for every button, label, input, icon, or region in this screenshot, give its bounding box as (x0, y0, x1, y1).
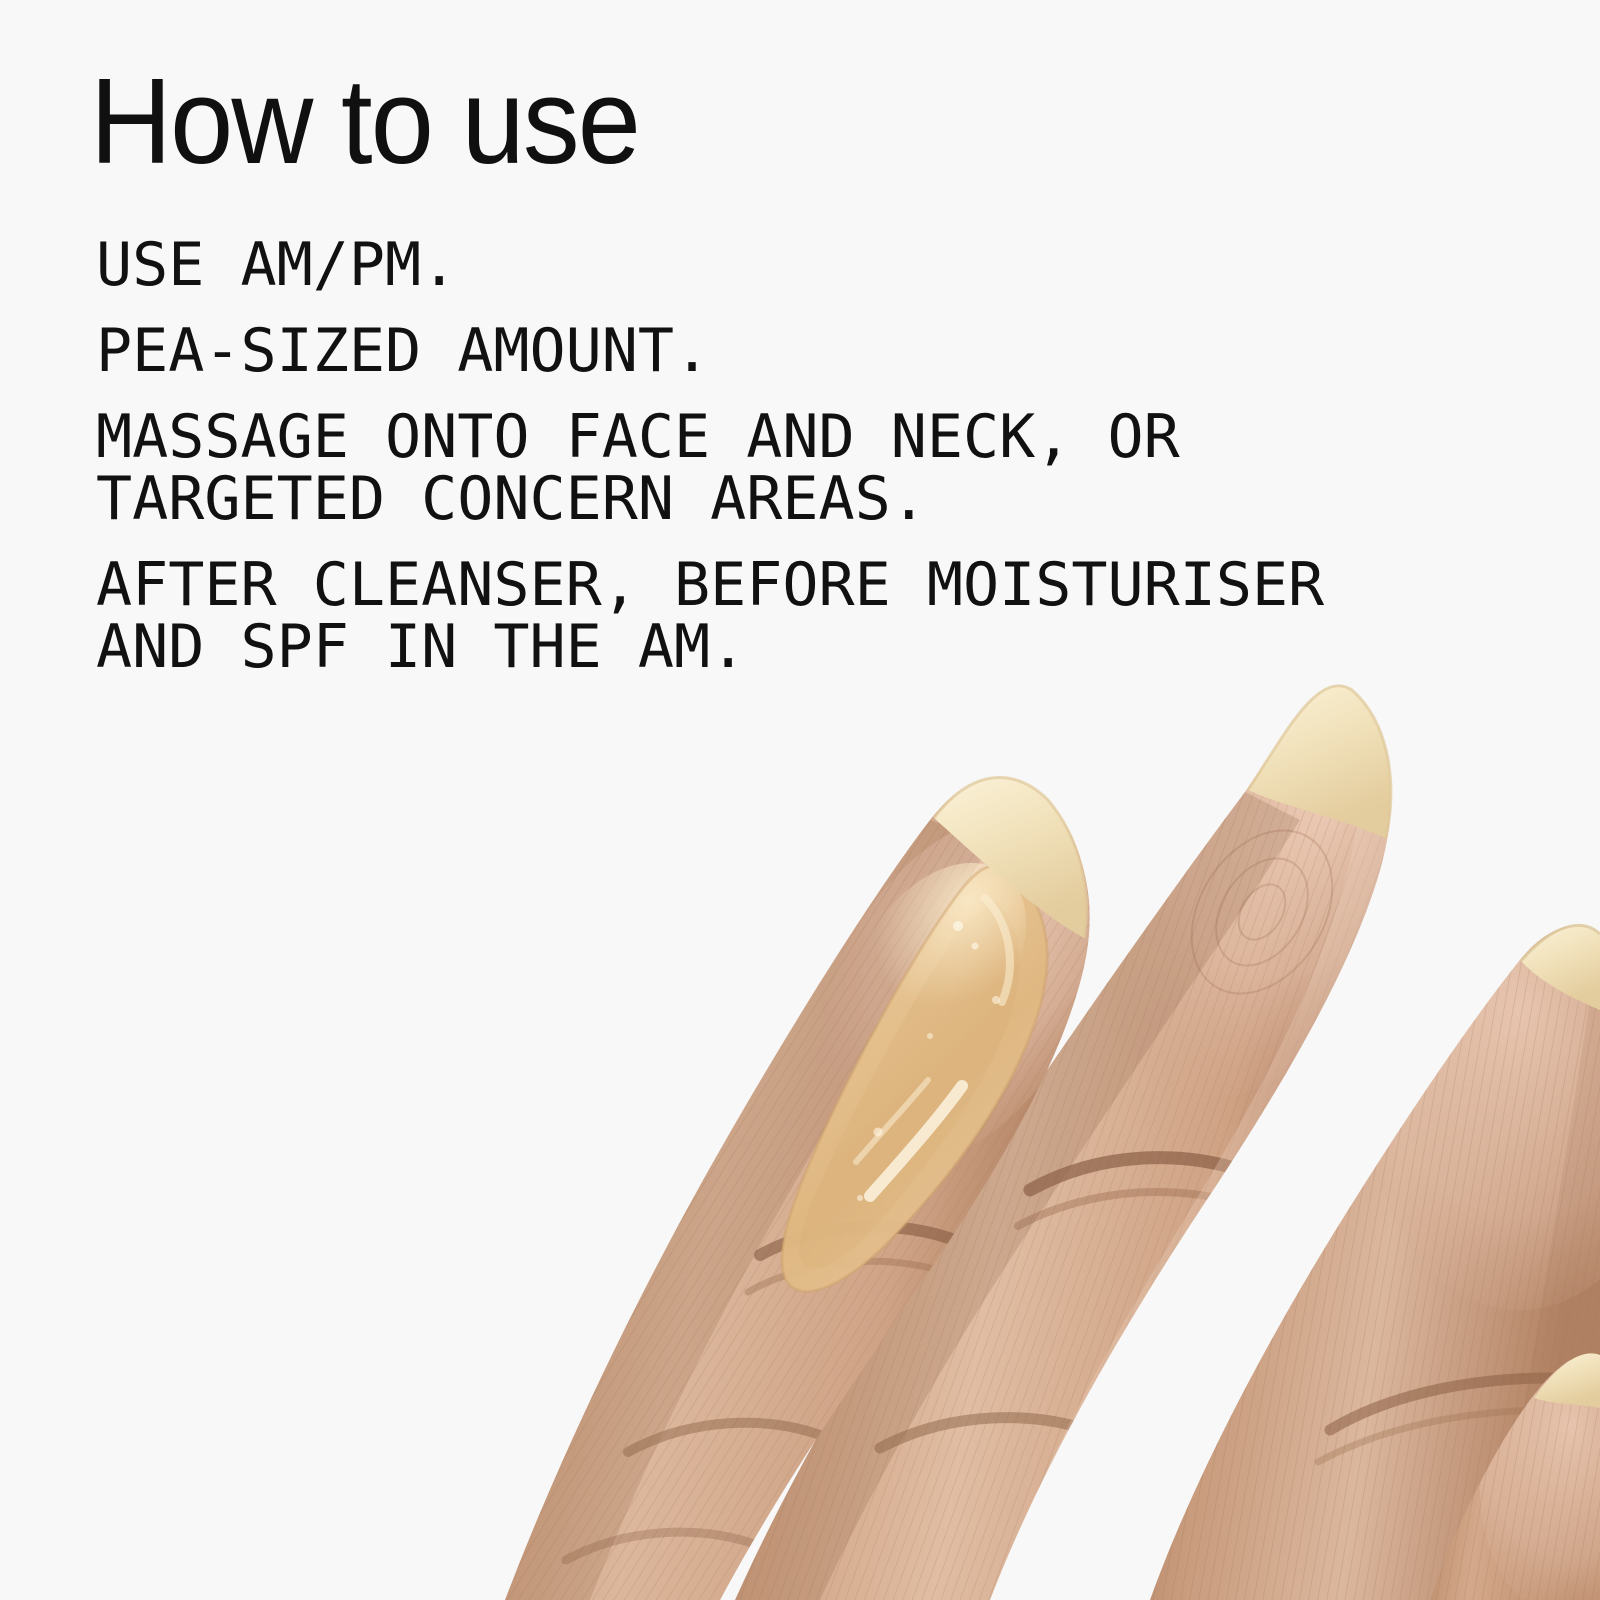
instruction-item-routine: AFTER CLEANSER, BEFORE MOISTURISER AND S… (96, 554, 1516, 678)
instruction-list: USE AM/PM. PEA-SIZED AMOUNT. MASSAGE ONT… (96, 234, 1516, 678)
instruction-item-application: MASSAGE ONTO FACE AND NECK, OR TARGETED … (96, 406, 1516, 530)
instruction-item-amount: PEA-SIZED AMOUNT. (96, 320, 1516, 382)
instruction-text-block: How to use USE AM/PM. PEA-SIZED AMOUNT. … (96, 60, 1516, 678)
product-instruction-card: How to use USE AM/PM. PEA-SIZED AMOUNT. … (0, 0, 1600, 1600)
page-title: How to use (90, 60, 1416, 182)
instruction-item-frequency: USE AM/PM. (96, 234, 1516, 296)
